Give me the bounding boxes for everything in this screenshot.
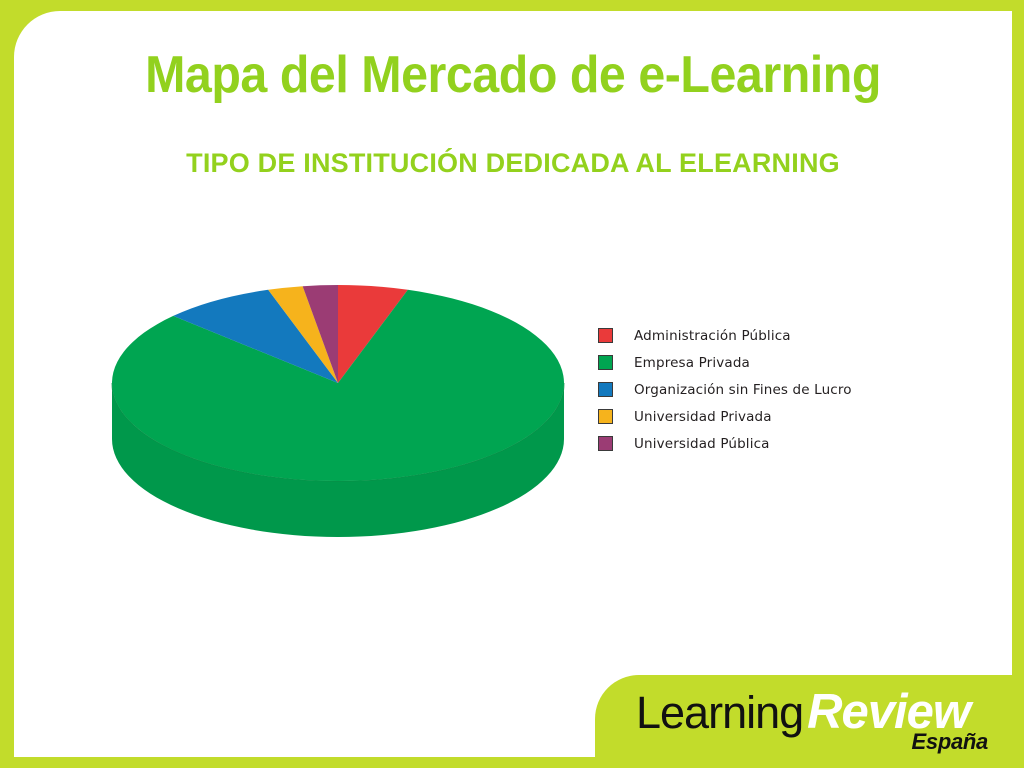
legend-item-label: Organización sin Fines de Lucro xyxy=(634,382,852,398)
legend-swatch-icon xyxy=(598,355,613,370)
legend-item-label: Administración Pública xyxy=(634,328,791,344)
legend-swatch-icon xyxy=(598,328,613,343)
legend-item-universidad-privada[interactable]: Universidad Privada xyxy=(598,403,928,430)
brand-logo-panel: Learning Review España xyxy=(595,675,1012,757)
legend-item-universidad-publica[interactable]: Universidad Pública xyxy=(598,430,928,457)
pie-slices xyxy=(112,285,564,481)
pie-chart-svg xyxy=(90,256,610,556)
legend-item-label: Universidad Privada xyxy=(634,409,772,425)
page-subtitle: TIPO DE INSTITUCIÓN DEDICADA AL ELEARNIN… xyxy=(14,148,1012,179)
pie-chart xyxy=(90,256,610,556)
logo-country-label: España xyxy=(912,729,988,755)
page-title: Mapa del Mercado de e-Learning xyxy=(49,45,977,105)
legend-item-label: Universidad Pública xyxy=(634,436,770,452)
logo-word-learning: Learning xyxy=(636,687,803,739)
legend-swatch-icon xyxy=(598,409,613,424)
legend-item-empresa-privada[interactable]: Empresa Privada xyxy=(598,349,928,376)
slide-canvas: Mapa del Mercado de e-Learning TIPO DE I… xyxy=(0,0,1024,768)
legend-swatch-icon xyxy=(598,382,613,397)
chart-legend: Administración Pública Empresa Privada O… xyxy=(598,322,928,457)
slide-white-surface: Mapa del Mercado de e-Learning TIPO DE I… xyxy=(14,11,1012,757)
title-block: Mapa del Mercado de e-Learning xyxy=(14,45,1012,105)
legend-item-administracion-publica[interactable]: Administración Pública xyxy=(598,322,928,349)
legend-item-organizacion-sin-fines-de-lucro[interactable]: Organización sin Fines de Lucro xyxy=(598,376,928,403)
legend-swatch-icon xyxy=(598,436,613,451)
legend-item-label: Empresa Privada xyxy=(634,355,750,371)
